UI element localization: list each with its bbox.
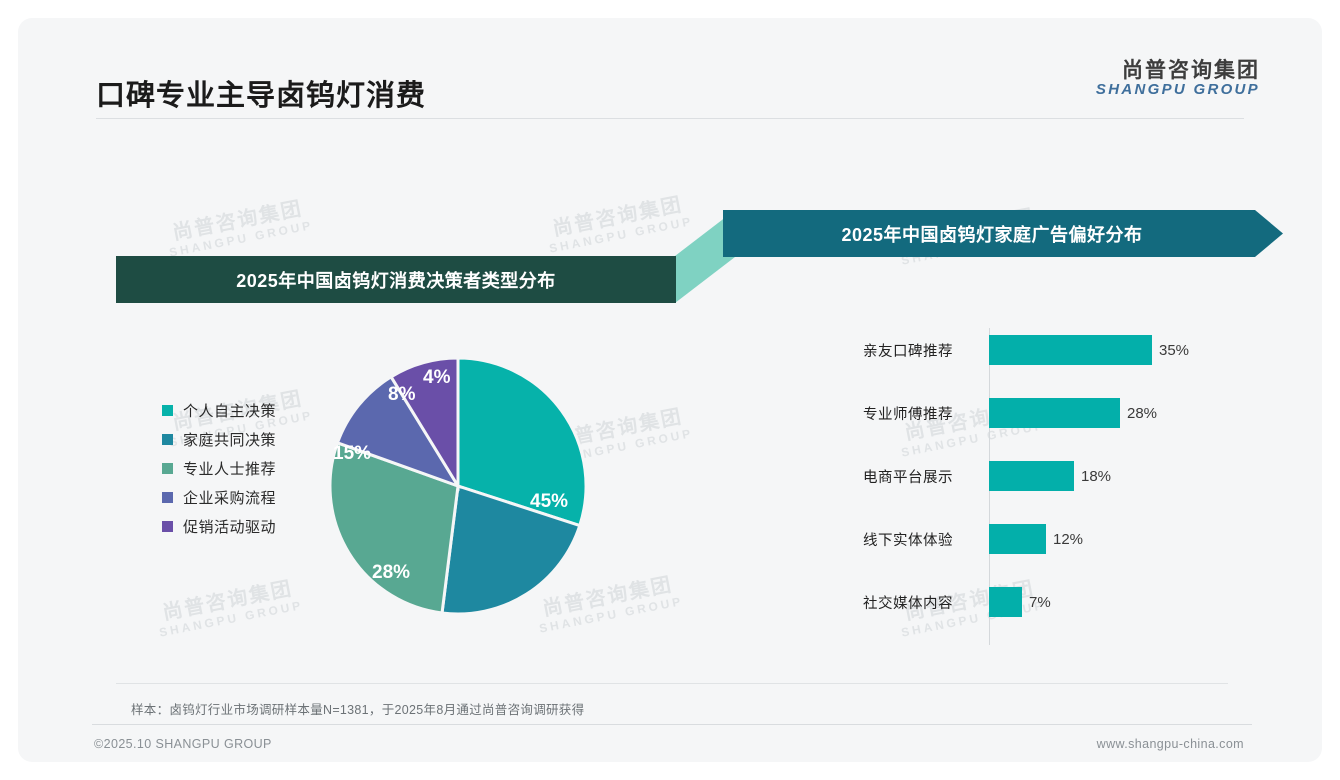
logo-cn-text: 尚普咨询集团 [1096, 60, 1260, 82]
footnote-divider [116, 683, 1228, 684]
watermark-en: SHANGPU GROUP [158, 599, 304, 640]
legend-item[interactable]: 促销活动驱动 [162, 512, 276, 541]
bar-chart: 亲友口碑推荐 35% 专业师傅推荐 28% 电商平台展示 18% 线下实体体验 [863, 323, 1283, 648]
footer-divider [92, 724, 1252, 725]
pie-chart-svg [318, 351, 598, 621]
bar-row: 社交媒体内容 7% [863, 587, 1283, 617]
bar-category-label: 社交媒体内容 [863, 592, 981, 613]
bar-category-label: 电商平台展示 [863, 466, 981, 487]
bar-fill[interactable] [989, 335, 1152, 365]
legend-item[interactable]: 企业采购流程 [162, 483, 276, 512]
bar-fill[interactable] [989, 461, 1074, 491]
bar-row: 线下实体体验 12% [863, 524, 1283, 554]
bar-fill[interactable] [989, 587, 1022, 617]
slide-header: 口碑专业主导卤钨灯消费 尚普咨询集团 SHANGPU GROUP [18, 18, 1322, 118]
bar-track: 18% [989, 461, 1111, 491]
bar-track: 12% [989, 524, 1083, 554]
legend-item-label: 家庭共同决策 [183, 429, 276, 450]
bar-value-label: 35% [1159, 342, 1189, 359]
legend-swatch-icon [162, 521, 173, 532]
bar-value-label: 18% [1081, 468, 1111, 485]
bar-value-label: 7% [1029, 594, 1051, 611]
bar-fill[interactable] [989, 524, 1046, 554]
bar-value-label: 12% [1053, 531, 1083, 548]
page-title: 口碑专业主导卤钨灯消费 [96, 72, 426, 114]
bar-row: 专业师傅推荐 28% [863, 398, 1283, 428]
footer-copyright: ©2025.10 SHANGPU GROUP [94, 737, 272, 751]
bar-category-label: 专业师傅推荐 [863, 403, 981, 424]
watermark: 尚普咨询集团 SHANGPU GROUP [164, 196, 315, 260]
pie-chart: 45% 28% 15% 8% 4% [318, 351, 598, 621]
bar-track: 28% [989, 398, 1157, 428]
pie-value-label: 45% [530, 491, 568, 513]
footnote-text: 样本：卤钨灯行业市场调研样本量N=1381，于2025年8月通过尚普咨询调研获得 [131, 699, 584, 718]
watermark-cn: 尚普咨询集团 [544, 192, 692, 243]
legend-item[interactable]: 专业人士推荐 [162, 454, 276, 483]
legend-item[interactable]: 个人自主决策 [162, 396, 276, 425]
logo-en-text: SHANGPU GROUP [1096, 82, 1260, 98]
bar-value-label: 28% [1127, 405, 1157, 422]
bar-category-label: 线下实体体验 [863, 529, 981, 550]
pie-legend: 个人自主决策 家庭共同决策 专业人士推荐 企业采购流程 促销活动驱动 [162, 396, 276, 541]
pie-value-label: 4% [423, 367, 450, 389]
bar-row: 电商平台展示 18% [863, 461, 1283, 491]
legend-item-label: 促销活动驱动 [183, 516, 276, 537]
legend-item-label: 个人自主决策 [183, 400, 276, 421]
watermark-en: SHANGPU GROUP [548, 215, 694, 256]
watermark-cn: 尚普咨询集团 [164, 196, 312, 247]
footer-website[interactable]: www.shangpu-china.com [1097, 737, 1244, 751]
legend-swatch-icon [162, 492, 173, 503]
watermark: 尚普咨询集团 SHANGPU GROUP [154, 576, 305, 640]
legend-swatch-icon [162, 434, 173, 445]
bar-track: 35% [989, 335, 1189, 365]
legend-item-label: 专业人士推荐 [183, 458, 276, 479]
watermark-cn: 尚普咨询集团 [154, 576, 302, 627]
chart-banner-left-label: 2025年中国卤钨灯消费决策者类型分布 [236, 267, 556, 293]
pie-value-label: 28% [372, 562, 410, 584]
slide-canvas: 尚普咨询集团 SHANGPU GROUP 尚普咨询集团 SHANGPU GROU… [18, 18, 1322, 762]
legend-item[interactable]: 家庭共同决策 [162, 425, 276, 454]
bar-category-label: 亲友口碑推荐 [863, 340, 981, 361]
watermark: 尚普咨询集团 SHANGPU GROUP [544, 192, 695, 256]
brand-logo: 尚普咨询集团 SHANGPU GROUP [1096, 60, 1260, 98]
legend-item-label: 企业采购流程 [183, 487, 276, 508]
legend-swatch-icon [162, 405, 173, 416]
bar-track: 7% [989, 587, 1051, 617]
chart-banner-right-label: 2025年中国卤钨灯家庭广告偏好分布 [841, 221, 1142, 247]
pie-value-label: 8% [388, 384, 415, 406]
pie-value-label: 15% [333, 443, 371, 465]
bar-fill[interactable] [989, 398, 1120, 428]
header-divider [96, 118, 1244, 119]
chart-banner-right: 2025年中国卤钨灯家庭广告偏好分布 [723, 210, 1283, 257]
chart-banner-left: 2025年中国卤钨灯消费决策者类型分布 [116, 256, 676, 303]
bar-row: 亲友口碑推荐 35% [863, 335, 1283, 365]
watermark-en: SHANGPU GROUP [168, 219, 314, 260]
legend-swatch-icon [162, 463, 173, 474]
